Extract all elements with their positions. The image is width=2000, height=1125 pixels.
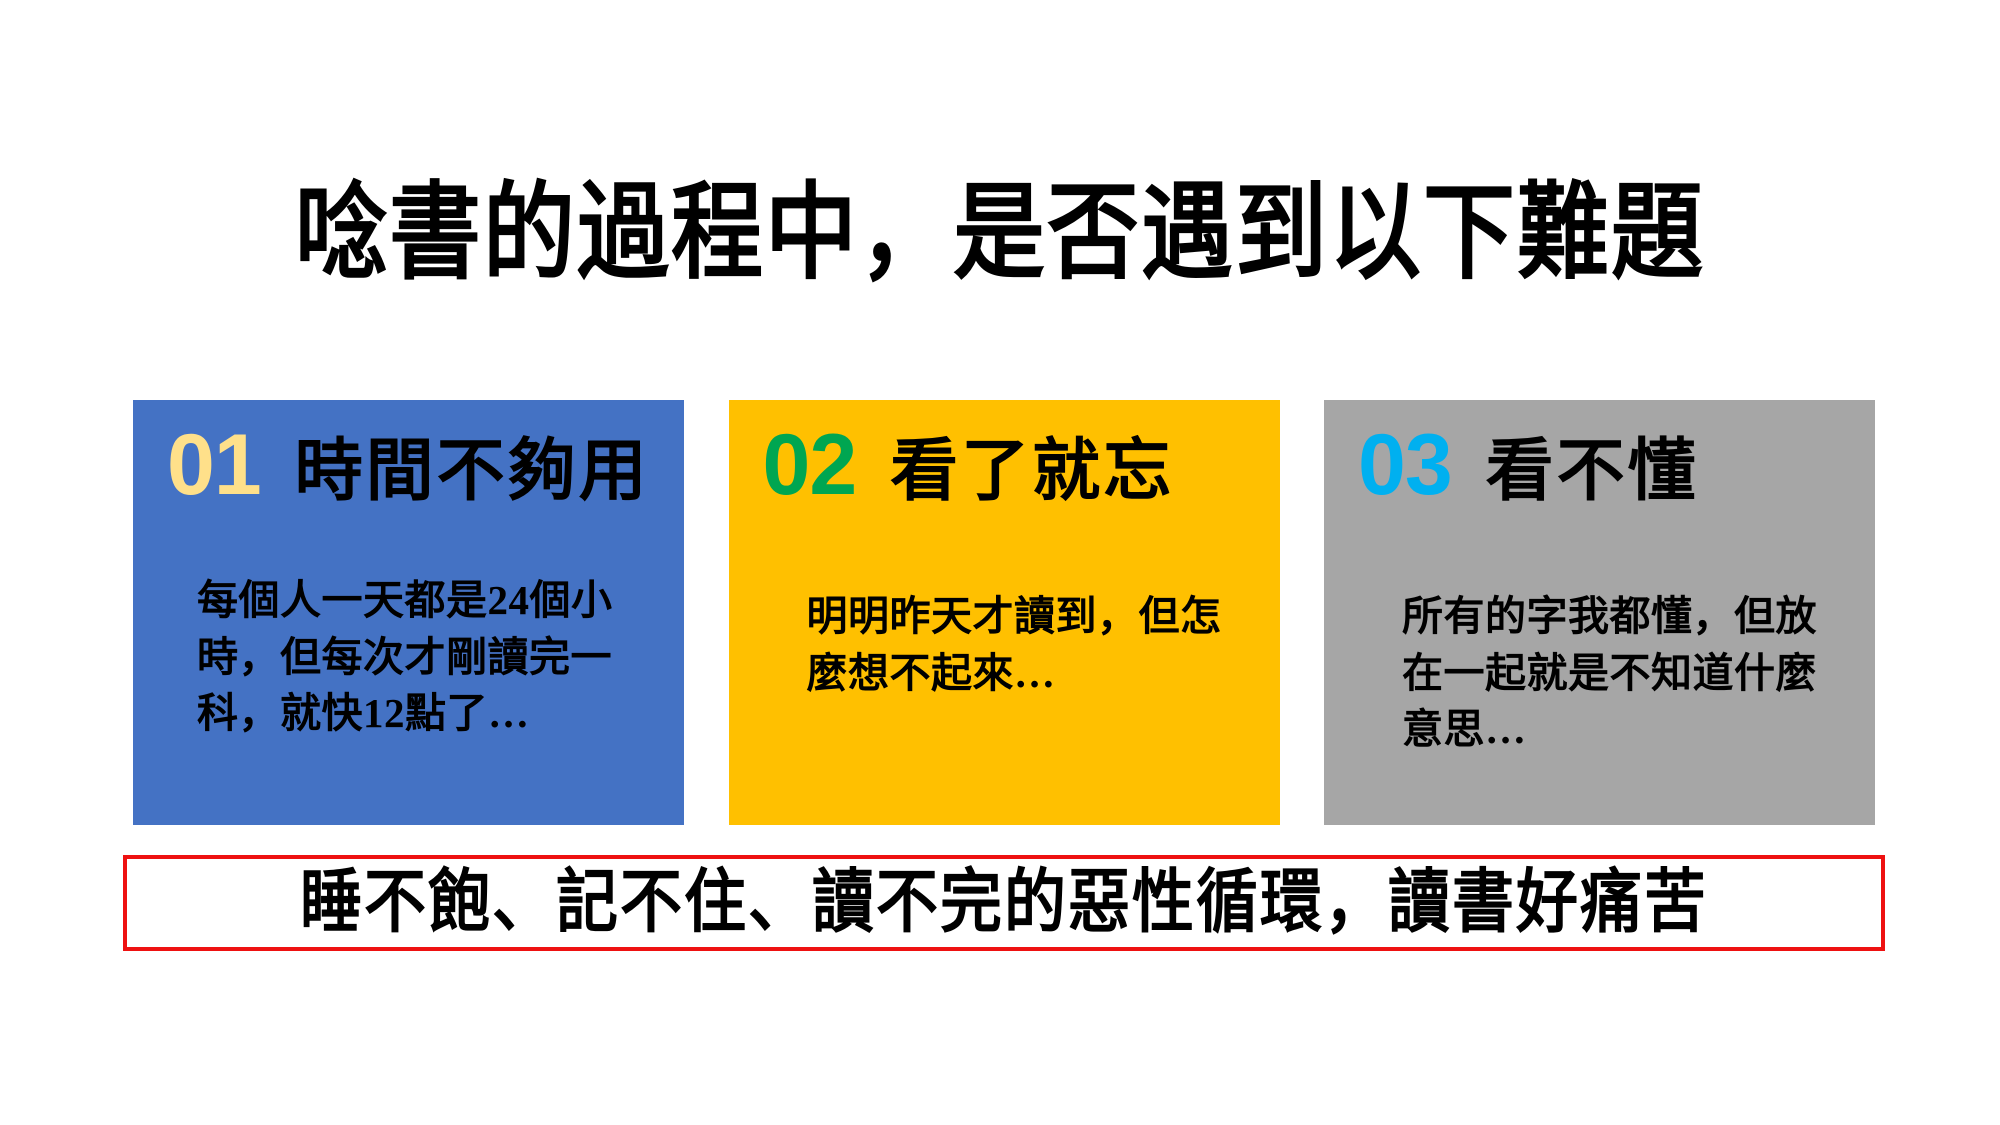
card-header-02: 02 看了就忘 <box>729 422 1280 508</box>
card-body-02: 明明昨天才讀到，但怎麼想不起來… <box>729 588 1280 701</box>
problem-card-01[interactable]: 01 時間不夠用 每個人一天都是24個小時，但每次才剛讀完一科，就快12點了… <box>133 400 684 825</box>
card-title-01: 時間不夠用 <box>295 437 650 505</box>
card-body-01: 每個人一天都是24個小時，但每次才剛讀完一科，就快12點了… <box>133 572 684 742</box>
card-number-01: 01 <box>167 422 261 508</box>
problem-card-list: 01 時間不夠用 每個人一天都是24個小時，但每次才剛讀完一科，就快12點了… … <box>133 400 1875 825</box>
slide-canvas: 唸書的過程中，是否遇到以下難題 01 時間不夠用 每個人一天都是24個小時，但每… <box>0 0 2000 1125</box>
card-body-03: 所有的字我都懂，但放在一起就是不知道什麼意思… <box>1324 588 1875 758</box>
page-title: 唸書的過程中，是否遇到以下難題 <box>0 178 2000 289</box>
card-number-03: 03 <box>1358 422 1452 508</box>
card-header-01: 01 時間不夠用 <box>133 422 684 508</box>
card-title-02: 看了就忘 <box>890 437 1174 505</box>
problem-card-02[interactable]: 02 看了就忘 明明昨天才讀到，但怎麼想不起來… <box>729 400 1280 825</box>
card-number-02: 02 <box>763 422 857 508</box>
summary-banner: 睡不飽、記不住、讀不完的惡性循環，讀書好痛苦 <box>123 855 1885 951</box>
problem-card-03[interactable]: 03 看不懂 所有的字我都懂，但放在一起就是不知道什麼意思… <box>1324 400 1875 825</box>
card-header-03: 03 看不懂 <box>1324 422 1875 508</box>
card-title-03: 看不懂 <box>1486 437 1699 505</box>
summary-banner-text: 睡不飽、記不住、讀不完的惡性循環，讀書好痛苦 <box>300 868 1708 937</box>
